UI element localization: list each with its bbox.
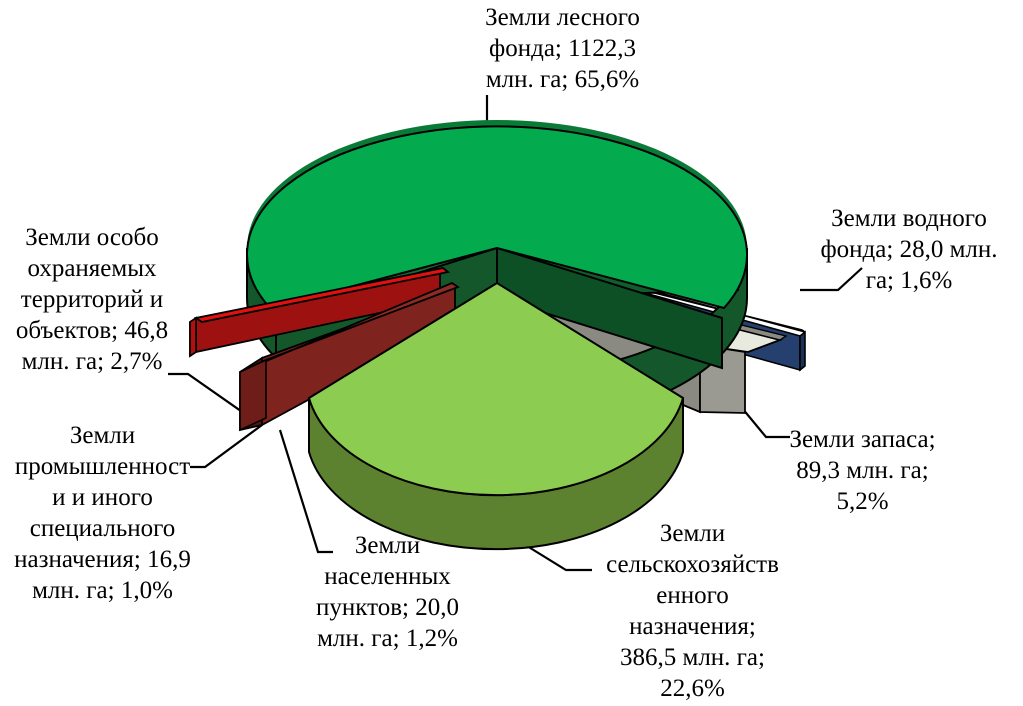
label-settlement-land: Земли населенных пунктов; 20,0 млн. га; … [295, 530, 480, 654]
label-protected-land: Земли особо охраняемых территорий и объе… [2, 222, 182, 377]
label-industrial-land: Земли промышленност и и иного специально… [0, 420, 205, 606]
label-agricultural-land: Земли сельскохозяйств енного назначения;… [575, 518, 810, 704]
label-reserve-land: Земли запаса; 89,3 млн. га; 5,2% [770, 424, 955, 517]
label-forest-fund: Земли лесного фонда; 1122,3 млн. га; 65,… [455, 2, 670, 95]
pie-chart-page: Земли лесного фонда; 1122,3 млн. га; 65,… [0, 0, 1023, 706]
label-water-fund: Земли водного фонда; 28,0 млн. га; 1,6% [800, 203, 1018, 296]
